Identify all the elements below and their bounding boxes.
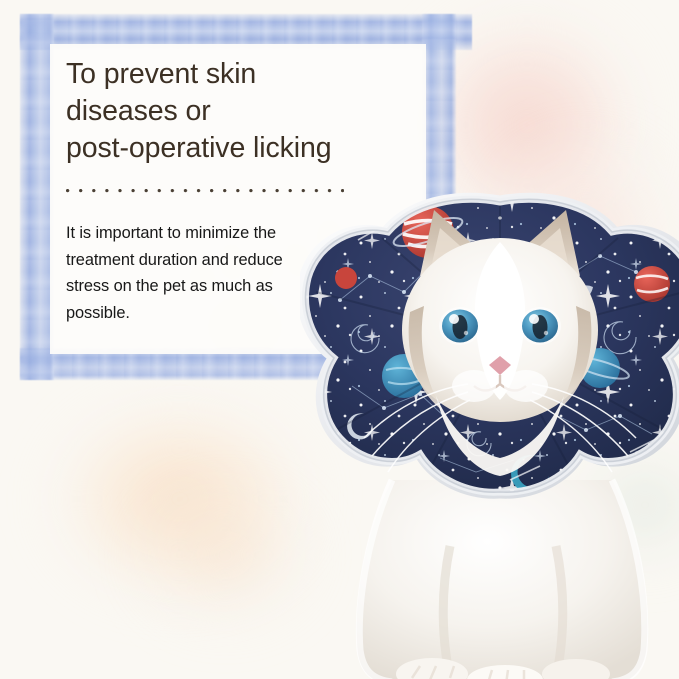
product-photo-cat-with-recovery-collar <box>300 180 679 679</box>
product-feature-poster: To prevent skin diseases or post-operati… <box>0 0 679 679</box>
watercolor-wash-peach-bottom-left <box>30 382 330 642</box>
headline: To prevent skin diseases or post-operati… <box>66 56 426 167</box>
watercolor-wash-peach-secondary <box>120 470 330 640</box>
planet-small-red <box>335 267 357 289</box>
cat-eye-left <box>439 307 481 345</box>
cat-body <box>357 480 648 679</box>
frame-border-left <box>20 14 54 380</box>
cat-eye-right <box>519 307 561 345</box>
body-paragraph: It is important to minimize the treatmen… <box>66 220 328 326</box>
